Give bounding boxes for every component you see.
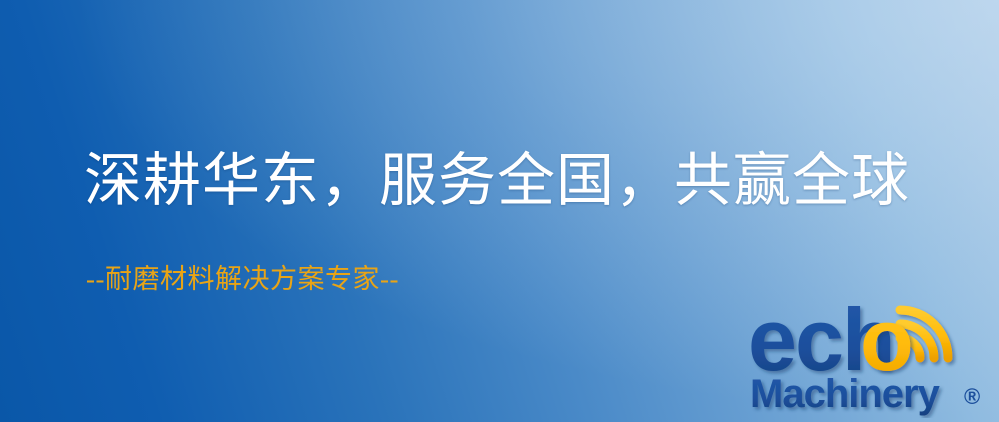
banner-subtitle: --耐磨材料解决方案专家-- [86,266,399,293]
logo-text-machinery: Machinery [750,372,941,416]
logo-registered-mark: ® [964,384,980,409]
hero-banner: 深耕华东，服务全国，共赢全球 --耐磨材料解决方案专家-- [0,0,999,422]
echo-machinery-logo[interactable]: ech o Machinery ® [748,292,992,418]
banner-headline: 深耕华东，服务全国，共赢全球 [84,152,910,210]
